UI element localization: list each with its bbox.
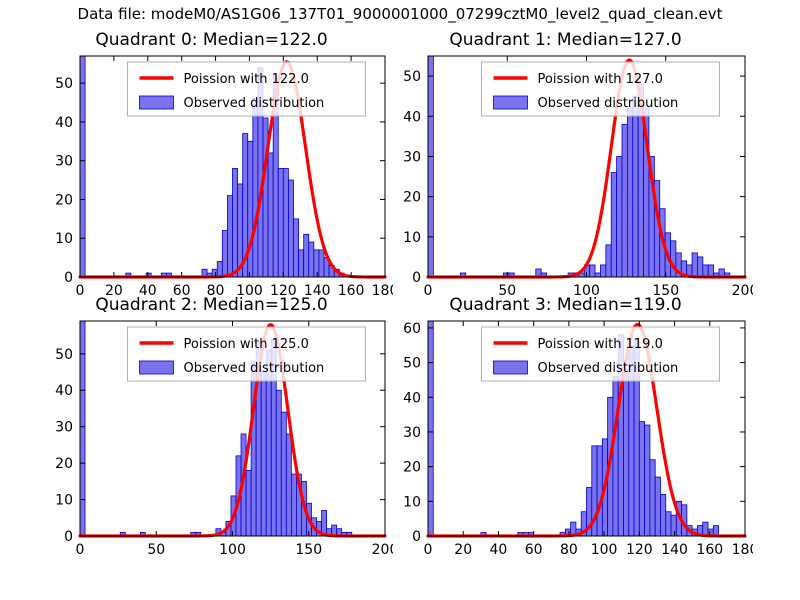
x-tick-label: 80	[560, 542, 578, 558]
histogram-bar	[600, 265, 605, 277]
x-tick-label: 180	[732, 542, 753, 558]
legend[interactable]: Poission with 127.0Observed distribution	[482, 62, 720, 116]
histogram-bar	[597, 446, 602, 536]
x-tick-label: 150	[295, 542, 322, 558]
y-tick-label: 30	[55, 420, 73, 436]
subplot-quadrant-3: Quadrant 3: Median=119.00204060801001201…	[378, 291, 753, 562]
histogram-bar	[622, 124, 627, 277]
histogram-bar	[595, 273, 600, 277]
y-tick-label: 50	[55, 347, 73, 363]
x-tick-label: 0	[424, 542, 433, 558]
x-tick-label: 50	[147, 542, 165, 558]
y-tick-label: 20	[403, 190, 421, 206]
subplot-title-quadrant-1: Quadrant 1: Median=127.0	[378, 30, 753, 50]
legend[interactable]: Poission with 125.0Observed distribution	[128, 327, 366, 381]
histogram-bar	[304, 234, 309, 277]
histogram-bar	[623, 370, 628, 536]
histogram-bar	[708, 265, 713, 277]
y-tick-label: 60	[403, 321, 421, 337]
subplot-quadrant-1: Quadrant 1: Median=127.00501001502000102…	[378, 26, 753, 303]
y-tick-label: 20	[55, 192, 73, 208]
x-tick-label: 100	[591, 542, 618, 558]
y-tick-label: 10	[55, 493, 73, 509]
histogram-bar	[428, 56, 433, 277]
histogram-bar	[299, 250, 304, 277]
histogram-bar	[613, 376, 618, 536]
legend-label-poisson: Poission with 125.0	[184, 337, 309, 352]
plot-area-quadrant-2: 05010015020001020304050Poission with 125…	[30, 291, 393, 562]
histogram-bar	[590, 265, 595, 277]
legend-label-poisson: Poission with 122.0	[184, 72, 309, 87]
histogram-bar	[655, 477, 660, 536]
legend-label-observed: Observed distribution	[184, 96, 325, 111]
y-tick-label: 40	[55, 383, 73, 399]
histogram-bar	[278, 168, 283, 277]
legend-label-poisson: Poission with 127.0	[538, 72, 663, 87]
legend-observed-swatch	[494, 361, 528, 374]
legend-observed-swatch	[140, 361, 174, 374]
y-tick-label: 0	[64, 270, 73, 286]
legend-label-observed: Observed distribution	[184, 361, 325, 376]
y-tick-label: 30	[403, 425, 421, 441]
histogram-bar	[606, 245, 611, 277]
histogram-bar	[692, 253, 697, 277]
histogram-bar	[309, 242, 314, 277]
y-tick-label: 50	[403, 356, 421, 372]
y-tick-label: 20	[403, 460, 421, 476]
histogram-bar	[428, 321, 433, 536]
histogram-bar	[697, 257, 702, 277]
y-tick-label: 50	[55, 76, 73, 92]
plot-area-quadrant-0: 02040608010012014016018001020304050Poiss…	[30, 26, 393, 303]
plot-area-quadrant-1: 05010015020001020304050Poission with 127…	[378, 26, 753, 303]
plot-area-quadrant-3: 0204060801001201401601800102030405060Poi…	[378, 291, 753, 562]
legend-label-observed: Observed distribution	[538, 361, 679, 376]
histogram-bar	[268, 153, 273, 277]
histogram-bar	[666, 512, 671, 536]
y-tick-label: 40	[403, 109, 421, 125]
histogram-bar	[246, 470, 251, 536]
y-tick-label: 0	[412, 270, 421, 286]
y-tick-label: 40	[403, 390, 421, 406]
histogram-bar	[645, 425, 650, 536]
y-tick-label: 10	[403, 494, 421, 510]
histogram-bar	[217, 261, 222, 277]
x-tick-label: 120	[626, 542, 653, 558]
histogram-bar	[281, 412, 286, 536]
x-tick-label: 0	[76, 542, 85, 558]
histogram-bar	[288, 180, 293, 277]
histogram-bar	[294, 219, 299, 277]
histogram-bar	[314, 250, 319, 277]
histogram-bar	[233, 168, 238, 277]
y-tick-label: 10	[403, 230, 421, 246]
y-tick-label: 30	[55, 154, 73, 170]
subplot-title-quadrant-2: Quadrant 2: Median=125.0	[30, 295, 393, 315]
figure-suptitle: Data file: modeM0/AS1G06_137T01_90000010…	[0, 5, 800, 23]
histogram-bar	[671, 515, 676, 536]
histogram-bar	[222, 230, 227, 277]
x-tick-label: 60	[525, 542, 543, 558]
histogram-bar	[227, 196, 232, 277]
x-tick-label: 100	[219, 542, 246, 558]
histogram-bar	[319, 250, 324, 277]
histogram-bar	[627, 108, 632, 277]
histogram-bar	[286, 434, 291, 536]
figure-canvas: Data file: modeM0/AS1G06_137T01_90000010…	[0, 0, 800, 600]
legend[interactable]: Poission with 119.0Observed distribution	[482, 327, 720, 381]
histogram-bar	[639, 422, 644, 536]
y-tick-label: 20	[55, 456, 73, 472]
histogram-bar	[253, 99, 258, 277]
histogram-bar	[617, 156, 622, 277]
y-tick-label: 50	[403, 69, 421, 85]
subplot-title-quadrant-0: Quadrant 0: Median=122.0	[30, 30, 393, 50]
x-tick-label: 20	[454, 542, 472, 558]
histogram-bar	[276, 390, 281, 536]
subplot-title-quadrant-3: Quadrant 3: Median=119.0	[378, 295, 753, 315]
legend-label-observed: Observed distribution	[538, 96, 679, 111]
legend-observed-swatch	[494, 96, 528, 109]
y-tick-label: 10	[55, 231, 73, 247]
y-tick-label: 0	[64, 529, 73, 545]
histogram-bar	[660, 494, 665, 536]
legend[interactable]: Poission with 122.0Observed distribution	[128, 62, 366, 116]
x-tick-label: 40	[490, 542, 508, 558]
histogram-bar	[291, 474, 296, 536]
histogram-bar	[80, 321, 85, 536]
histogram-bar	[611, 173, 616, 277]
legend-label-poisson: Poission with 119.0	[538, 337, 663, 352]
histogram-bar	[261, 372, 266, 536]
histogram-bar	[633, 96, 638, 277]
histogram-bar	[671, 241, 676, 277]
y-tick-label: 40	[55, 115, 73, 131]
x-tick-label: 140	[661, 542, 688, 558]
y-tick-label: 0	[412, 529, 421, 545]
subplot-quadrant-0: Quadrant 0: Median=122.00204060801001201…	[30, 26, 393, 303]
histogram-bar	[703, 265, 708, 277]
histogram-bar	[650, 460, 655, 536]
histogram-bar	[283, 168, 288, 277]
legend-observed-swatch	[140, 96, 174, 109]
histogram-bar	[248, 141, 253, 277]
histogram-bar	[80, 56, 85, 277]
subplot-quadrant-2: Quadrant 2: Median=125.00501001502000102…	[30, 291, 393, 562]
x-tick-label: 160	[696, 542, 723, 558]
y-tick-label: 30	[403, 149, 421, 165]
